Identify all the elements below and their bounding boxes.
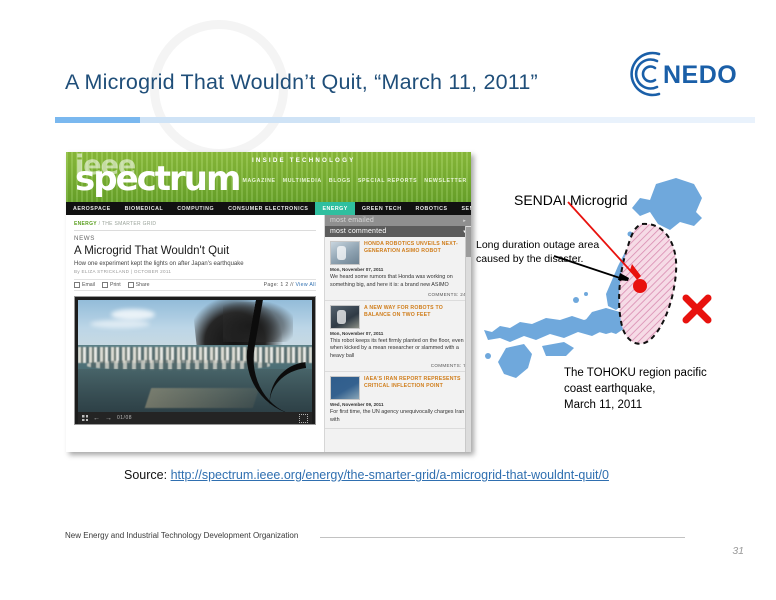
tab-most-emailed-label: most emailed xyxy=(330,217,374,224)
outage-label-line-2: caused by the disaster. xyxy=(476,252,599,266)
caption-line-3: March 11, 2011 xyxy=(564,398,707,414)
spectrum-wordmark: spectrum xyxy=(75,162,239,196)
fullscreen-icon[interactable] xyxy=(299,414,308,423)
dashed-hatched-outage-region xyxy=(619,224,676,344)
nav-item-energy[interactable]: ENERGY xyxy=(315,202,354,215)
breadcrumb-section[interactable]: ENERGY xyxy=(74,221,97,227)
ieee-spectrum-screenshot: ieee spectrum INSIDE TECHNOLOGY MAGAZINE… xyxy=(66,152,471,452)
video-cloud xyxy=(111,309,155,320)
list-item[interactable]: IAEA'S IRAN REPORT REPRESENTS CRITICAL I… xyxy=(325,372,471,429)
sendai-microgrid-label: SENDAI Microgrid xyxy=(514,192,628,208)
tab-most-emailed[interactable]: most emailed ▸ xyxy=(325,215,471,226)
list-item-date: Mon, November 07, 2011 xyxy=(330,267,466,272)
masthead-top-links[interactable]: MAGAZINE MULTIMEDIA BLOGS SPECIAL REPORT… xyxy=(242,178,467,184)
spectrum-masthead: ieee spectrum INSIDE TECHNOLOGY MAGAZINE… xyxy=(66,152,471,202)
article-pager[interactable]: Page: 1 2 // View All xyxy=(264,282,316,288)
top-link-special-reports[interactable]: SPECIAL REPORTS xyxy=(358,178,417,184)
page-number: 31 xyxy=(732,545,744,557)
divider-segment-1 xyxy=(55,117,140,123)
thumbnail-grid-icon[interactable] xyxy=(82,415,88,421)
nav-item-consumer-electronics[interactable]: CONSUMER ELECTRONICS xyxy=(221,202,315,215)
sidebar-scrollbar-thumb[interactable] xyxy=(466,227,471,257)
list-item[interactable]: HONDA ROBOTICS UNVEILS NEXT-GENERATION A… xyxy=(325,237,471,301)
caption-line-1: The TOHOKU region pacific xyxy=(564,366,707,382)
tab-most-commented-label: most commented xyxy=(330,228,387,235)
breadcrumb-sub[interactable]: / THE SMARTER GRID xyxy=(99,221,157,227)
sidebar-scrollbar[interactable] xyxy=(465,226,471,452)
spectrum-sidebar: most emailed ▸ most commented ▾ HONDA RO… xyxy=(324,215,471,452)
arrow-right-icon[interactable]: → xyxy=(105,415,112,422)
footer-organization: New Energy and Industrial Technology Dev… xyxy=(65,531,298,540)
divider-segment-2 xyxy=(140,117,340,123)
nav-item-semiconductors[interactable]: SEMICONDUCTORS xyxy=(455,202,471,215)
list-item-title[interactable]: HONDA ROBOTICS UNVEILS NEXT-GENERATION A… xyxy=(364,241,466,265)
caption-line-2: coast earthquake, xyxy=(564,382,707,398)
article-headline: A Microgrid That Wouldn't Quit xyxy=(74,245,316,257)
top-link-multimedia[interactable]: MULTIMEDIA xyxy=(283,178,322,184)
video-road xyxy=(145,388,259,408)
list-item[interactable]: A NEW WAY FOR ROBOTS TO BALANCE ON TWO F… xyxy=(325,301,471,372)
list-item-title[interactable]: IAEA'S IRAN REPORT REPRESENTS CRITICAL I… xyxy=(364,376,466,400)
nav-item-computing[interactable]: COMPUTING xyxy=(170,202,221,215)
article-byline: By ELIZA STRICKLAND | OCTOBER 2011 xyxy=(74,269,316,274)
divider-segment-3 xyxy=(340,117,755,123)
title-divider-bar xyxy=(55,117,755,123)
list-item-text: This robot keeps its feet firmly planted… xyxy=(330,338,466,361)
breadcrumb-rule xyxy=(74,230,316,231)
nav-item-robotics[interactable]: ROBOTICS xyxy=(409,202,455,215)
top-link-newsletter[interactable]: NEWSLETTER xyxy=(424,178,467,184)
list-item-date: Wed, November 09, 2011 xyxy=(330,402,466,407)
tohoku-earthquake-caption: The TOHOKU region pacific coast earthqua… xyxy=(564,366,707,414)
top-link-blogs[interactable]: BLOGS xyxy=(329,178,351,184)
article-dek: How one experiment kept the lights on af… xyxy=(74,261,316,267)
thumbnail-image xyxy=(330,241,360,265)
list-item-comment-count: COMMENTS: 7 xyxy=(330,363,466,368)
list-item-text: For first time, the UN agency unequivoca… xyxy=(330,409,466,425)
share-button[interactable]: Share xyxy=(128,282,150,288)
print-button[interactable]: Print xyxy=(102,282,121,288)
red-x-marker xyxy=(686,298,708,320)
outage-label-line-1: Long duration outage area xyxy=(476,238,599,252)
pager-separator: // xyxy=(290,282,293,288)
list-item-date: Mon, November 07, 2011 xyxy=(330,331,466,336)
video-timecode: 01/08 xyxy=(117,415,132,421)
nedo-logo: NEDO xyxy=(629,50,749,98)
article-tools-row: Email Print Share P xyxy=(74,279,316,291)
top-link-magazine[interactable]: MAGAZINE xyxy=(242,178,275,184)
pager-pages[interactable]: 1 2 xyxy=(280,282,288,288)
printer-icon xyxy=(102,282,108,288)
article-kicker: NEWS xyxy=(74,235,316,242)
envelope-icon xyxy=(74,282,80,288)
video-player[interactable]: ← → 01/08 xyxy=(74,296,316,425)
page-title: A Microgrid That Wouldn’t Quit, “March 1… xyxy=(65,70,625,95)
article-column: ENERGY / THE SMARTER GRID NEWS A Microgr… xyxy=(66,215,324,452)
japan-map: SENDAI Microgrid Long duration outage ar… xyxy=(480,160,760,460)
thumbnail-image xyxy=(330,305,360,329)
video-frame[interactable] xyxy=(78,300,312,412)
spectrum-nav-bar[interactable]: AEROSPACE BIOMEDICAL COMPUTING CONSUMER … xyxy=(66,202,471,215)
tab-most-commented[interactable]: most commented ▾ xyxy=(325,226,471,237)
nav-item-aerospace[interactable]: AEROSPACE xyxy=(66,202,118,215)
nav-item-green-tech[interactable]: GREEN TECH xyxy=(355,202,409,215)
nedo-logo-text: NEDO xyxy=(663,61,737,89)
list-item-text: We heard some rumors that Honda was work… xyxy=(330,274,466,290)
video-control-bar[interactable]: ← → 01/08 xyxy=(78,412,312,424)
email-button[interactable]: Email xyxy=(74,282,95,288)
arrow-left-icon[interactable]: ← xyxy=(93,415,100,422)
share-icon xyxy=(128,282,134,288)
masthead-tagline: INSIDE TECHNOLOGY xyxy=(252,157,355,164)
outage-area-label: Long duration outage area caused by the … xyxy=(476,238,599,266)
source-label: Source: xyxy=(124,468,167,482)
source-line: Source: http://spectrum.ieee.org/energy/… xyxy=(124,468,609,482)
print-label: Print xyxy=(110,282,121,288)
breadcrumb[interactable]: ENERGY / THE SMARTER GRID xyxy=(74,221,316,227)
email-label: Email xyxy=(82,282,95,288)
red-dot-marker xyxy=(633,279,647,293)
nav-item-biomedical[interactable]: BIOMEDICAL xyxy=(118,202,171,215)
share-label: Share xyxy=(136,282,150,288)
thumbnail-image xyxy=(330,376,360,400)
source-url-link[interactable]: http://spectrum.ieee.org/energy/the-smar… xyxy=(171,468,609,482)
list-item-comment-count: COMMENTS: 24 xyxy=(330,292,466,297)
chevron-right-icon: ▸ xyxy=(463,218,466,224)
footer-rule xyxy=(320,537,685,538)
pager-view-all[interactable]: View All xyxy=(296,282,316,288)
pager-label: Page: xyxy=(264,282,279,288)
slide-canvas: A Microgrid That Wouldn’t Quit, “March 1… xyxy=(0,0,776,600)
list-item-title[interactable]: A NEW WAY FOR ROBOTS TO BALANCE ON TWO F… xyxy=(364,305,466,329)
